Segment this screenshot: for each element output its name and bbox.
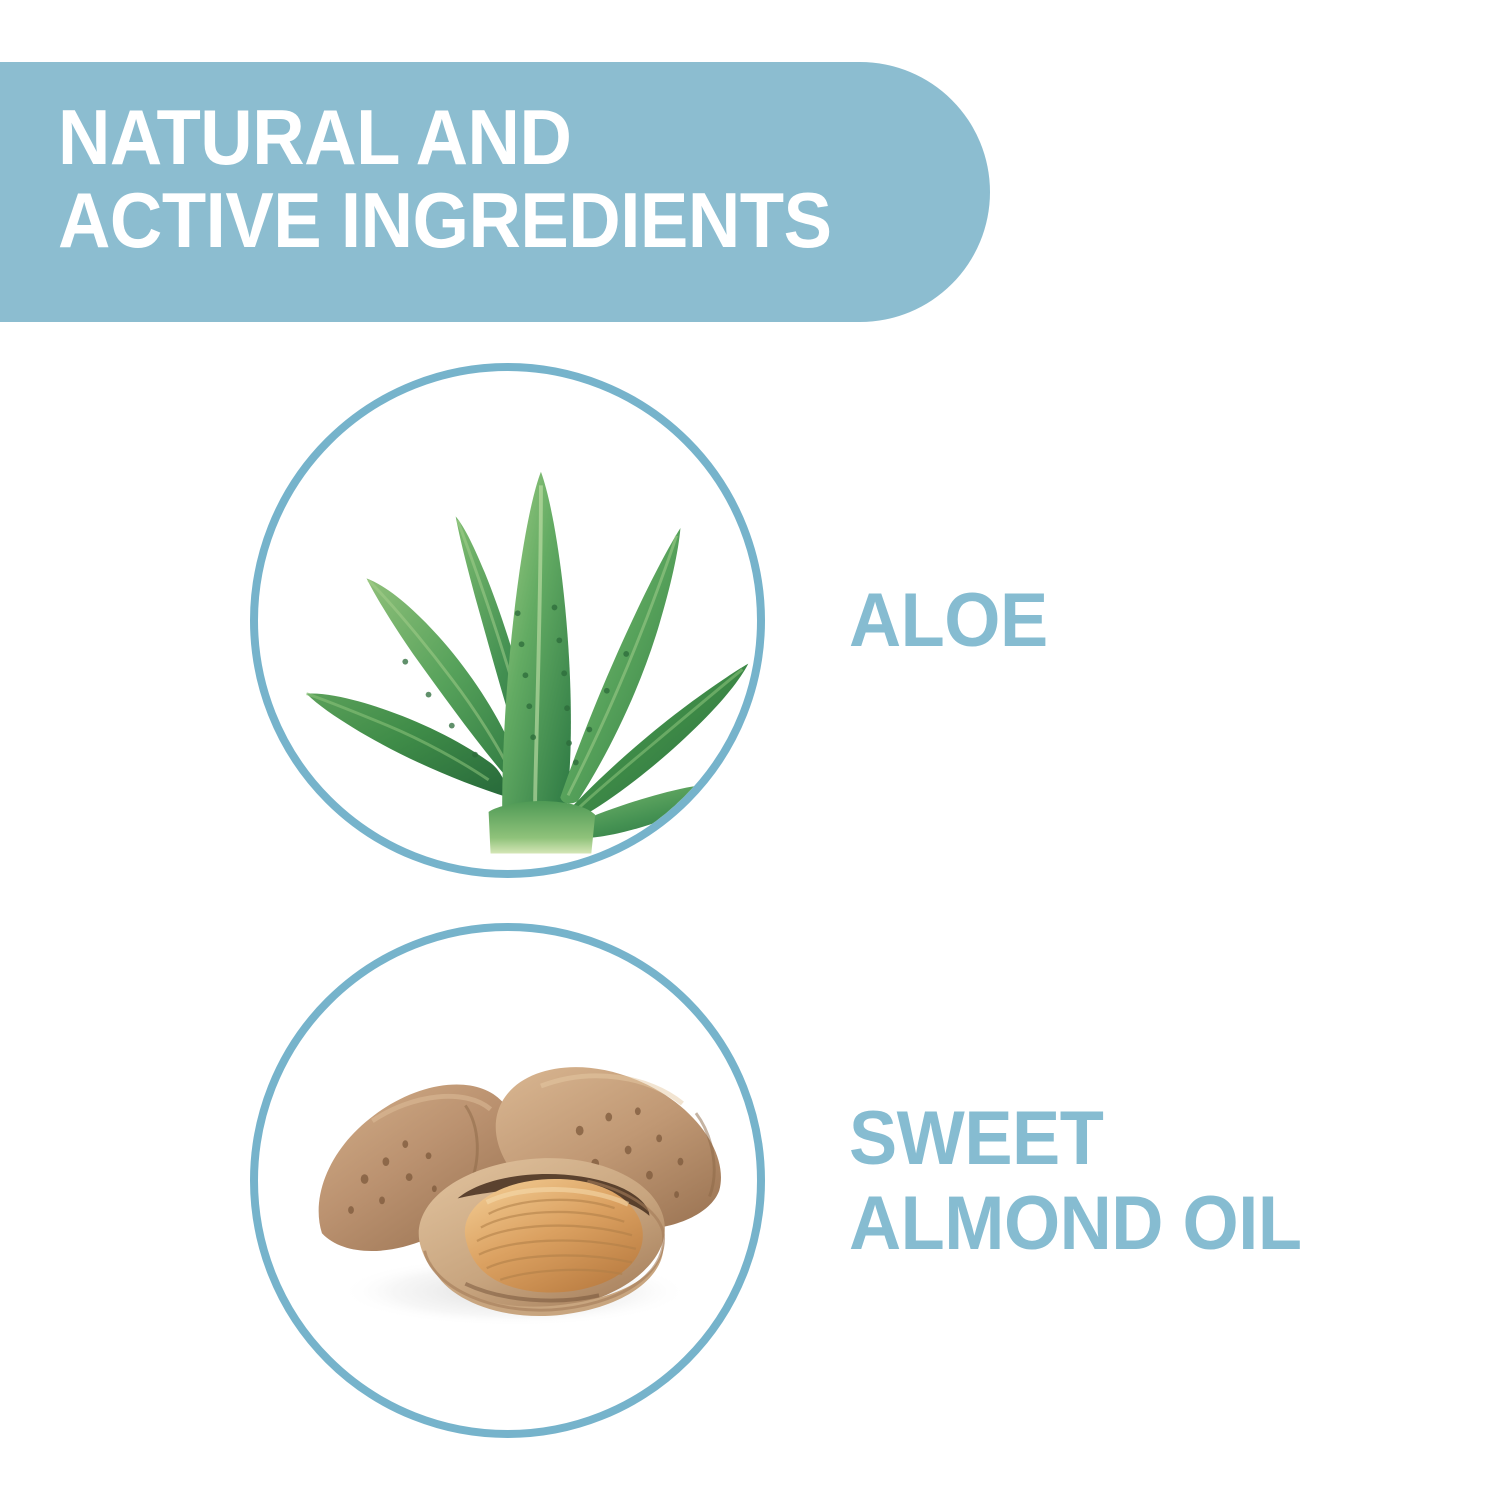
aloe-vera-plant-icon [258, 371, 757, 870]
ingredient-label-almond: SWEET ALMOND OIL [849, 1096, 1301, 1266]
almond-nuts-icon [258, 931, 757, 1430]
header-banner: NATURAL AND ACTIVE INGREDIENTS [0, 62, 990, 322]
ingredient-image-circle-almond [250, 923, 765, 1438]
ingredient-row-aloe: ALOE [250, 363, 1058, 878]
ingredients-infographic: NATURAL AND ACTIVE INGREDIENTS [0, 0, 1500, 1500]
ingredient-row-almond: SWEET ALMOND OIL [250, 923, 1325, 1438]
ingredient-image-circle-aloe [250, 363, 765, 878]
ingredient-label-aloe: ALOE [849, 578, 1048, 663]
page-title: NATURAL AND ACTIVE INGREDIENTS [58, 96, 914, 262]
